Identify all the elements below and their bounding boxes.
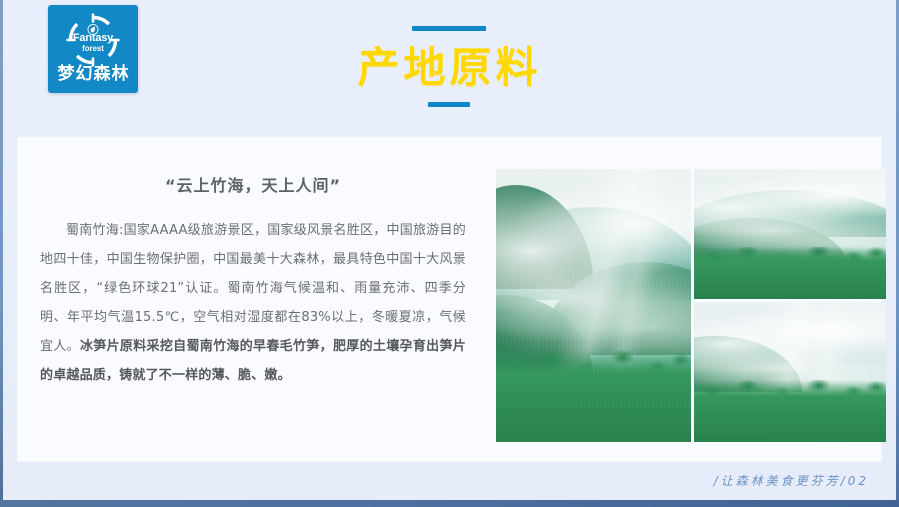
- brand-logo[interactable]: Fantasy forest 梦 幻 森 林: [48, 5, 138, 93]
- logo-ring-icon: Fantasy forest: [64, 11, 122, 69]
- photo-bottom-grain: [694, 302, 886, 442]
- logo-cn-char-2: 幻: [76, 63, 93, 85]
- pull-quote: “云上竹海，天上人间”: [40, 174, 466, 198]
- body-part-emphasis: 冰笋片原料采挖自蜀南竹海的早春毛竹笋，肥厚的土壤孕育出笋片的卓越品质，铸就了不一…: [40, 339, 466, 383]
- title-rule-top: [412, 26, 486, 31]
- footer-slogan: /让森林美食更芬芳/02: [714, 472, 869, 489]
- body-part-normal: 蜀南竹海:国家AAAA级旅游景区，国家级风景名胜区，中国旅游目的地四十佳，中国生…: [40, 223, 466, 354]
- photo-collage: [478, 157, 868, 442]
- text-column: “云上竹海，天上人间” 蜀南竹海:国家AAAA级旅游景区，国家级风景名胜区，中国…: [40, 174, 466, 390]
- photo-main-grain: [496, 169, 691, 442]
- logo-chinese-name: 梦 幻 森 林: [54, 62, 132, 86]
- slide-root: Fantasy forest 梦 幻 森 林 产地原料 “云上竹海，天上人间” …: [0, 0, 899, 507]
- logo-cn-char-1: 梦: [58, 63, 75, 85]
- bottom-edge-accent: [0, 500, 899, 507]
- logo-cn-char-3: 森: [94, 63, 111, 85]
- title-rule-bottom: [428, 102, 470, 107]
- photo-bottom-right: [694, 302, 886, 442]
- content-card: “云上竹海，天上人间” 蜀南竹海:国家AAAA级旅游景区，国家级风景名胜区，中国…: [18, 138, 881, 461]
- left-edge-accent: [0, 0, 3, 507]
- body-paragraph: 蜀南竹海:国家AAAA级旅游景区，国家级风景名胜区，中国旅游目的地四十佳，中国生…: [40, 216, 466, 390]
- photo-top-grain: [694, 169, 886, 299]
- leaf-icon: [88, 24, 99, 35]
- photo-top-right: [694, 169, 886, 299]
- logo-cn-char-4: 林: [112, 63, 129, 85]
- photo-main: [496, 169, 691, 442]
